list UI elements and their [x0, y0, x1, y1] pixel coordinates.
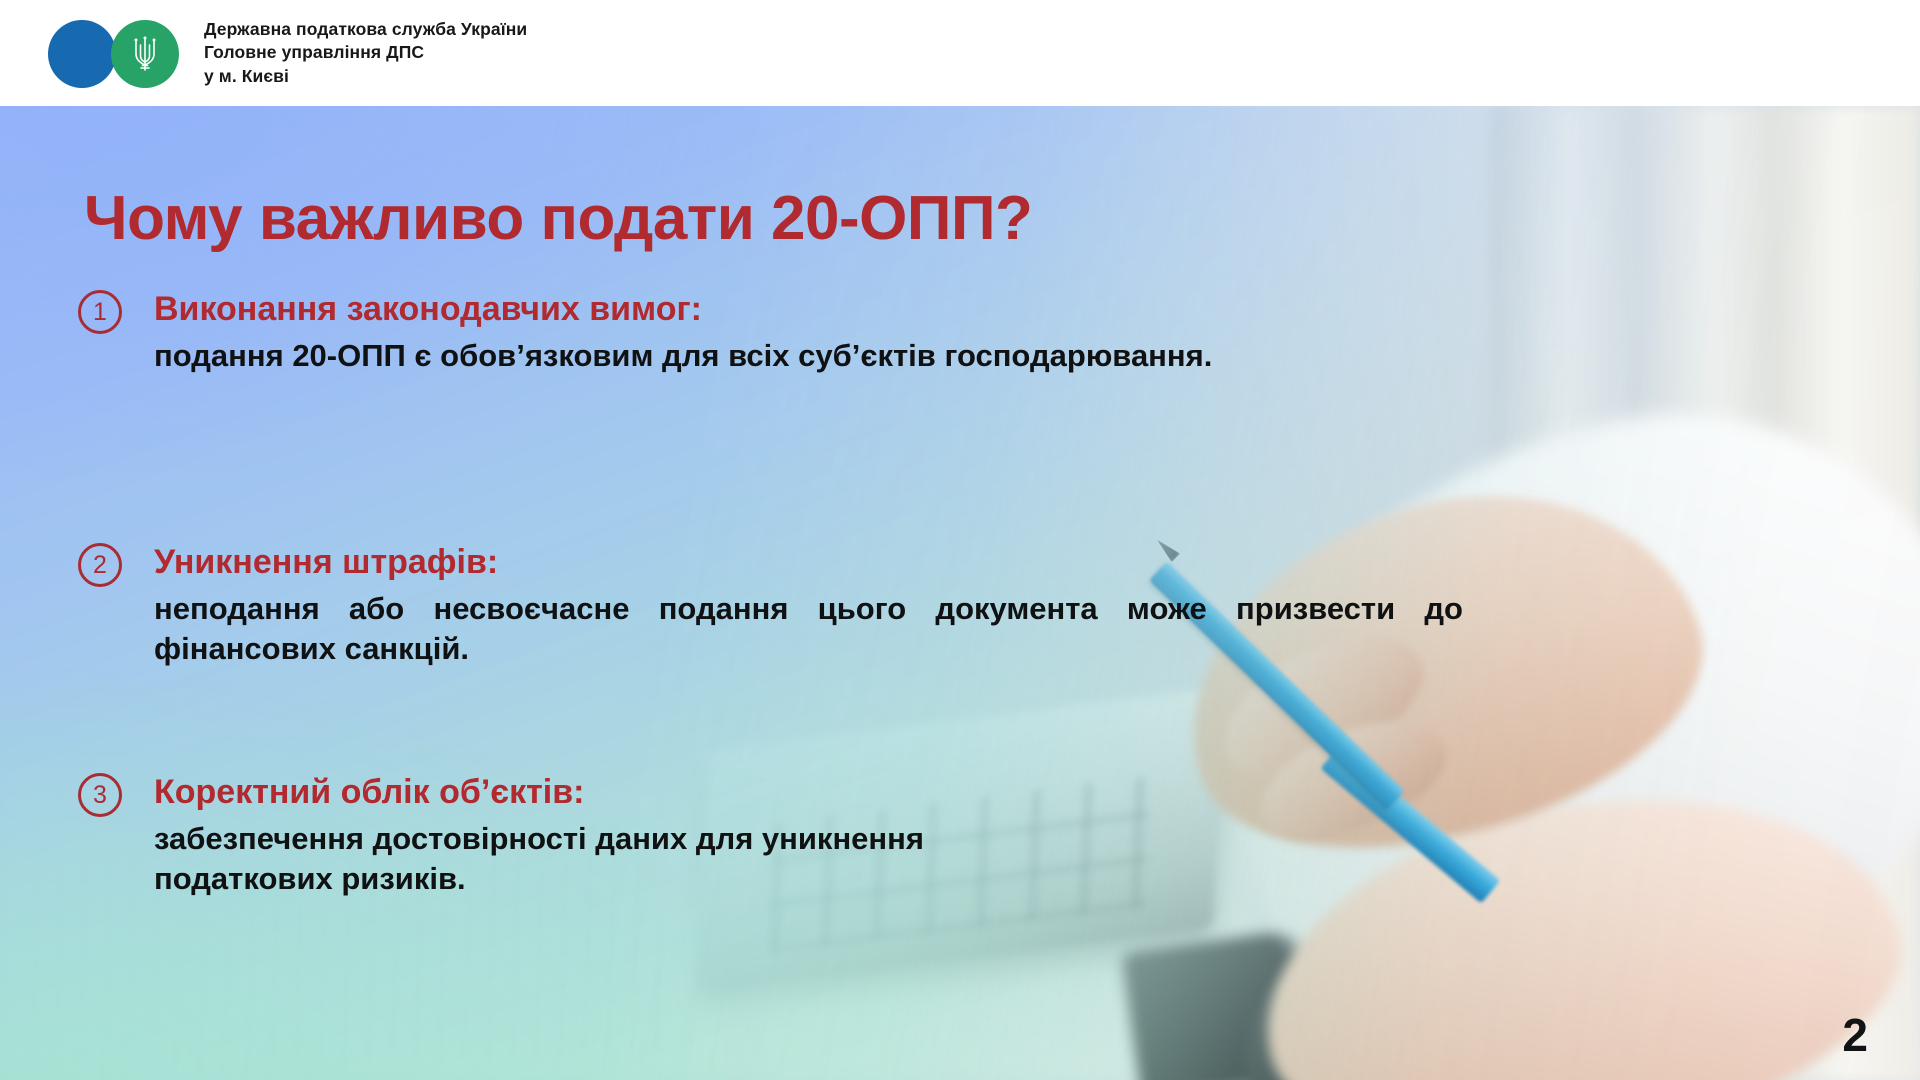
page-title: Чому важливо подати 20-ОПП?: [84, 188, 1032, 250]
ukraine-tryzub-icon: [130, 34, 160, 74]
item-heading-2: Уникнення штрафів:: [154, 542, 1463, 582]
item-heading-1: Виконання законодавчих вимог:: [154, 289, 1478, 329]
logo-green-circle-icon: [111, 20, 179, 88]
item-body-3-line-2: податкових ризиків.: [154, 859, 1198, 899]
item-body-2: неподання або несвоєчасне подання цього …: [154, 589, 1463, 670]
item-body-3-line-1: забезпечення достовірності даних для уни…: [154, 819, 1198, 859]
dps-logo: [48, 13, 196, 93]
organization-header: Державна податкова служба України Головн…: [0, 0, 1920, 106]
item-number-badge-2: 2: [78, 543, 122, 587]
item-body-3: забезпечення достовірності даних для уни…: [154, 819, 1198, 900]
list-item: 3 Коректний облік об’єктів: забезпечення…: [78, 772, 1198, 900]
slide-content: Чому важливо подати 20-ОПП? 1 Виконання …: [0, 106, 1920, 1080]
item-heading-3: Коректний облік об’єктів:: [154, 772, 1198, 812]
org-line-2: Головне управління ДПС: [204, 41, 527, 64]
org-line-1: Державна податкова служба України: [204, 18, 527, 41]
organization-name-block: Державна податкова служба України Головн…: [204, 18, 527, 88]
list-item: 1 Виконання законодавчих вимог: подання …: [78, 289, 1478, 376]
page-number: 2: [1842, 1012, 1868, 1058]
list-item: 2 Уникнення штрафів: неподання або несво…: [78, 542, 1463, 670]
item-body-1: подання 20-ОПП є обов’язковим для всіх с…: [154, 336, 1478, 376]
item-number-badge-3: 3: [78, 773, 122, 817]
logo-blue-circle-icon: [48, 20, 116, 88]
org-line-3: у м. Києві: [204, 65, 527, 88]
item-number-badge-1: 1: [78, 290, 122, 334]
slide-body: Чому важливо подати 20-ОПП? 1 Виконання …: [0, 106, 1920, 1080]
